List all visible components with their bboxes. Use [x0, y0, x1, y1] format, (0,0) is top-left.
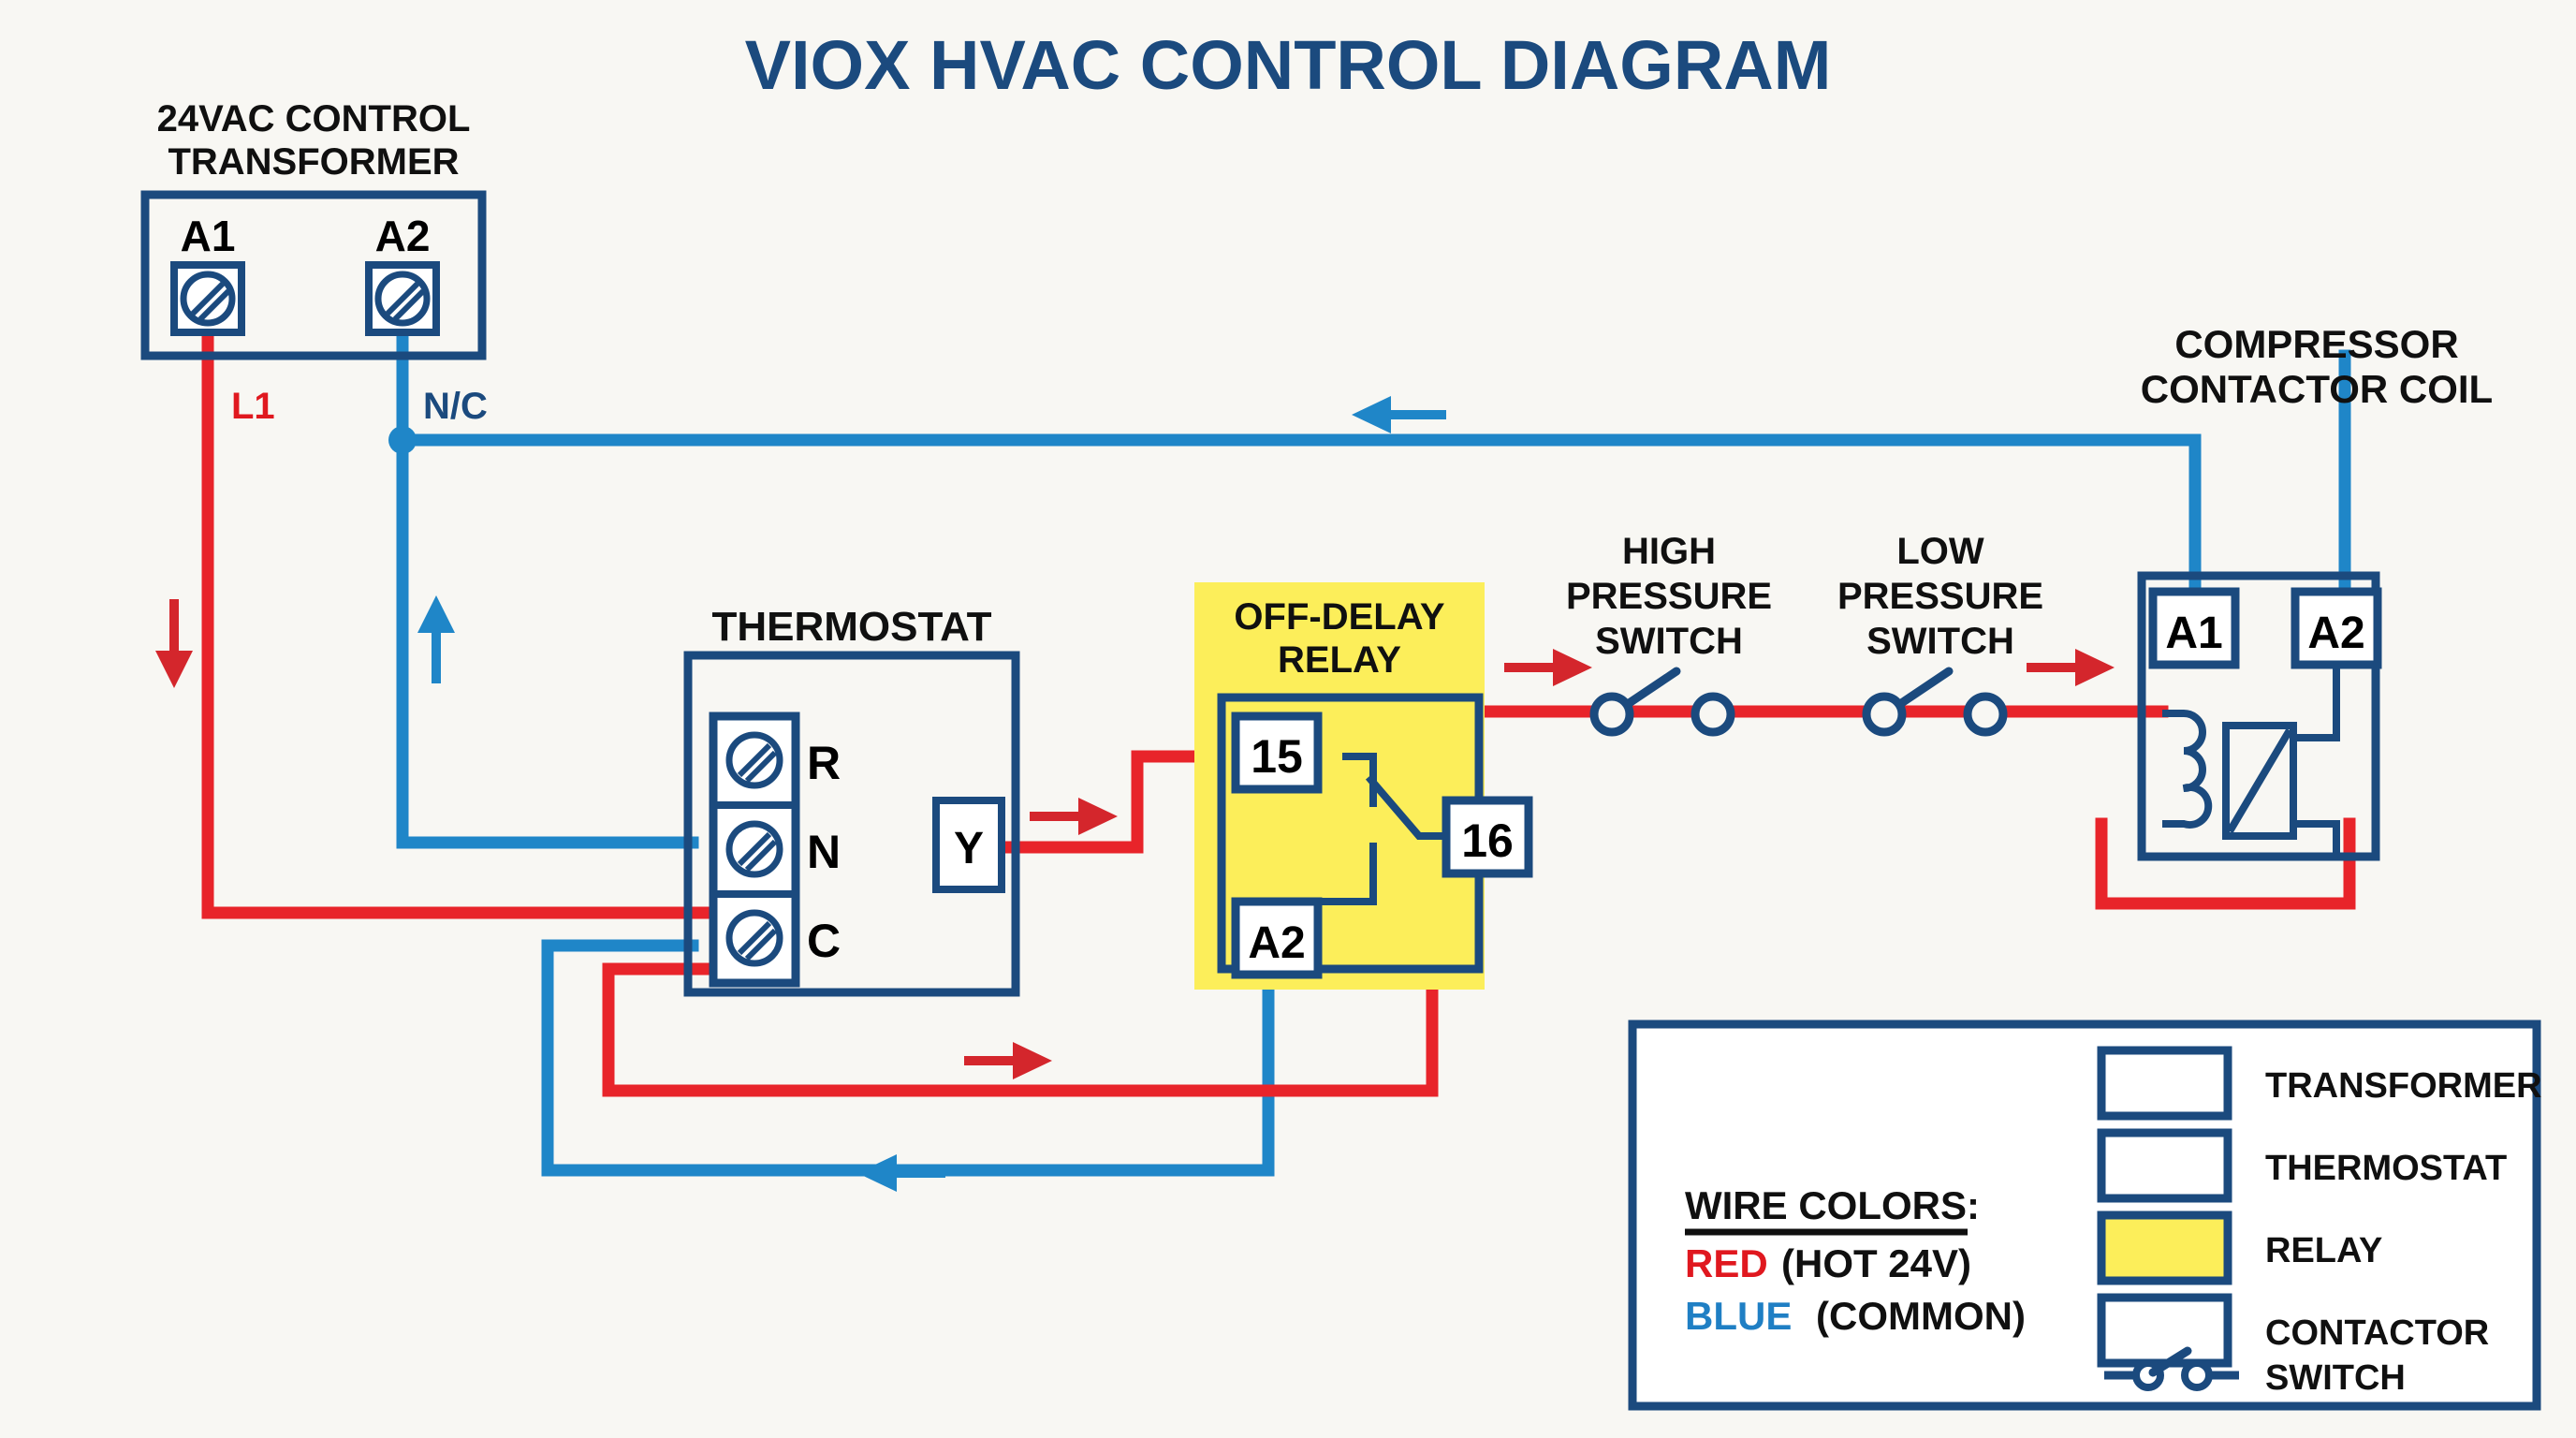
legend-label-transformer: TRANSFORMER	[2265, 1066, 2542, 1106]
legend-swatch-contactor	[2101, 1298, 2228, 1363]
high-pressure-switch-label-line2: PRESSURE	[1566, 576, 1772, 617]
transformer-label-line1: 24VAC CONTROL	[157, 98, 471, 139]
legend-swatch-relay	[2101, 1215, 2228, 1281]
page-title: VIOX HVAC CONTROL DIAGRAM	[745, 26, 1832, 104]
legend-swatch-thermostat	[2101, 1133, 2228, 1198]
thermostat-terminal-n-label: N	[807, 826, 841, 878]
relay-terminal-16-label: 16	[1461, 814, 1514, 867]
flow-arrow-bottom-common-left	[857, 1154, 945, 1192]
contactor-block[interactable]: COMPRESSOR CONTACTOR COIL A1 A2	[2141, 322, 2493, 857]
thermostat-label: THERMOSTAT	[712, 604, 992, 650]
screw-terminal-icon[interactable]	[174, 265, 241, 332]
high-pressure-switch-label-line3: SWITCH	[1595, 621, 1743, 662]
legend-blue-description: (COMMON)	[1816, 1294, 2026, 1338]
relay-terminal-15[interactable]: 15	[1236, 716, 1318, 789]
flow-arrow-lps-to-contactor-right	[2027, 649, 2115, 686]
legend-swatch-transformer	[2101, 1050, 2228, 1116]
screw-terminal-icon[interactable]	[729, 913, 780, 963]
legend-switch-contact-icon	[2185, 1363, 2209, 1387]
thermostat-terminal-r-label: R	[807, 737, 841, 789]
junction-dot	[388, 426, 417, 454]
legend-red-word: RED	[1685, 1241, 1768, 1285]
screw-terminal-icon[interactable]	[729, 824, 780, 874]
transformer-block[interactable]: 24VAC CONTROL TRANSFORMER A1 A2	[145, 98, 482, 356]
flow-arrow-top-common-left	[1352, 396, 1446, 433]
armature-slash-icon	[2230, 730, 2290, 831]
flow-arrow-bottom-hot-right	[964, 1042, 1052, 1079]
switch-contact-icon	[1594, 697, 1630, 732]
thermostat-y-label: Y	[954, 824, 984, 873]
low-pressure-switch-label-line3: SWITCH	[1866, 621, 2014, 662]
screw-terminal-icon[interactable]	[729, 735, 780, 785]
flow-arrow-relay-to-hps-right	[1504, 649, 1592, 686]
contactor-terminal-a2-label: A2	[2307, 609, 2364, 658]
low-pressure-switch-label-line1: LOW	[1896, 531, 1984, 572]
contactor-a2-link	[2293, 665, 2336, 738]
switch-contact-icon	[1968, 697, 2003, 732]
thermostat-y-terminal[interactable]: Y	[936, 800, 1002, 889]
low-pressure-switch[interactable]: LOW PRESSURE SWITCH	[1837, 531, 2043, 732]
relay-terminal-a2[interactable]: A2	[1236, 902, 1318, 975]
relay-label-line1: OFF-DELAY	[1234, 596, 1445, 638]
switch-contact-icon	[1695, 697, 1731, 732]
contactor-label-line2: CONTACTOR COIL	[2141, 367, 2493, 411]
flow-arrow-l1-down	[155, 599, 193, 688]
thermostat-block[interactable]: THERMOSTAT R N C Y	[688, 604, 1016, 992]
off-delay-relay-block[interactable]: OFF-DELAY RELAY 15 16 A2	[1194, 582, 1529, 990]
contactor-terminal-a1-label: A1	[2165, 609, 2222, 658]
switch-contact-icon	[1866, 697, 1902, 732]
relay-terminal-16[interactable]: 16	[1446, 800, 1529, 873]
contactor-lower-link	[2293, 824, 2336, 857]
high-pressure-switch[interactable]: HIGH PRESSURE SWITCH	[1566, 531, 1772, 732]
transformer-label-line2: TRANSFORMER	[168, 141, 459, 183]
wire-label-nc: N/C	[423, 386, 488, 427]
legend-label-thermostat: THERMOSTAT	[2265, 1149, 2507, 1188]
legend-panel: WIRE COLORS: RED (HOT 24V) BLUE (COMMON)…	[1632, 1024, 2542, 1406]
hvac-control-diagram: VIOX HVAC CONTROL DIAGRAM 24VAC CONTROL …	[0, 0, 2576, 1438]
transformer-terminal-a1-label: A1	[181, 212, 236, 260]
flow-arrow-nc-up	[417, 595, 455, 683]
contactor-terminal-a2[interactable]: A2	[2295, 592, 2378, 665]
flow-arrow-y-to-relay-right	[1030, 798, 1118, 835]
legend-label-relay: RELAY	[2265, 1231, 2382, 1270]
transformer-terminal-a2-label: A2	[375, 212, 431, 260]
relay-terminal-a2-label: A2	[1248, 918, 1305, 968]
thermostat-terminal-c-label: C	[807, 915, 841, 967]
high-pressure-switch-label-line1: HIGH	[1622, 531, 1716, 572]
low-pressure-switch-label-line2: PRESSURE	[1837, 576, 2043, 617]
legend-label-contactor: CONTACTOR	[2265, 1313, 2489, 1353]
diagram-canvas: VIOX HVAC CONTROL DIAGRAM 24VAC CONTROL …	[0, 0, 2576, 1438]
legend-label-switch: SWITCH	[2265, 1358, 2406, 1398]
relay-label-line2: RELAY	[1278, 639, 1401, 681]
coil-icon	[2162, 713, 2208, 825]
contactor-label-line1: COMPRESSOR	[2174, 322, 2458, 366]
screw-terminal-icon[interactable]	[369, 265, 436, 332]
wire-common-thermostat-n-to-relay-a2	[548, 946, 1268, 1170]
legend-blue-word: BLUE	[1685, 1294, 1792, 1338]
legend-wire-colors-heading: WIRE COLORS:	[1685, 1183, 1980, 1227]
wire-label-l1: L1	[231, 386, 275, 427]
relay-terminal-15-label: 15	[1251, 730, 1303, 783]
contactor-terminal-a1[interactable]: A1	[2153, 592, 2235, 665]
wire-common-to-thermostat-r	[402, 440, 693, 843]
legend-red-description: (HOT 24V)	[1781, 1241, 1971, 1285]
